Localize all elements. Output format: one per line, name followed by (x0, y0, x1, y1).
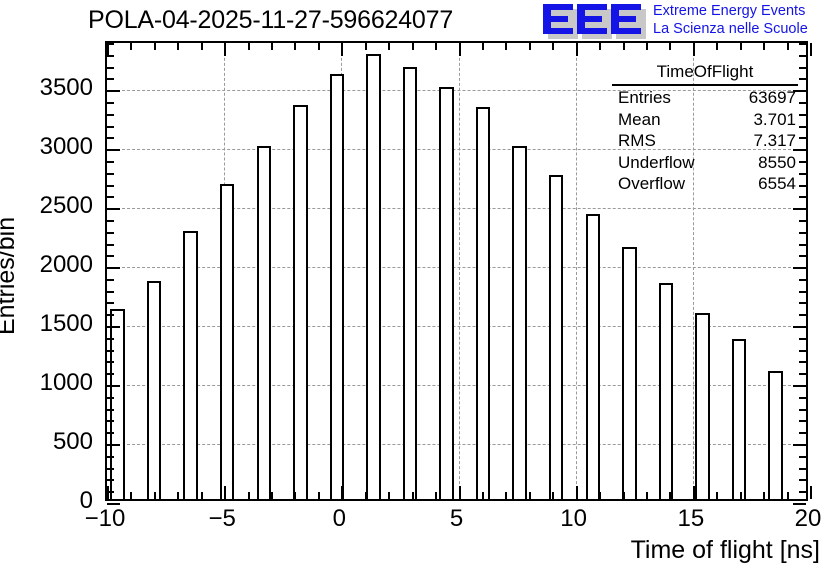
y-tick-left (107, 456, 114, 458)
histogram-bar (183, 231, 198, 499)
x-tick-top (716, 43, 718, 50)
histogram-bar (512, 146, 527, 499)
x-tick-top (318, 43, 320, 50)
y-tick-label: 0 (0, 487, 93, 515)
histogram-bar (768, 371, 783, 499)
x-tick-bottom (459, 486, 461, 499)
y-tick-right (799, 479, 806, 481)
x-tick-label: 5 (450, 505, 463, 533)
y-tick-left (107, 196, 114, 198)
y-tick-left (107, 361, 114, 363)
x-tick-bottom (341, 486, 343, 499)
x-tick-top (435, 43, 437, 50)
y-tick-left (107, 350, 114, 352)
histogram-bar (586, 214, 601, 499)
eee-logo: Extreme Energy Events La Scienza nelle S… (543, 2, 833, 42)
y-tick-left (107, 126, 114, 128)
histogram-bar (293, 105, 308, 499)
page-title: POLA-04-2025-11-27-596624077 (88, 6, 453, 35)
eee-logo-line2: La Scienza nelle Scuole (653, 21, 808, 39)
y-tick-left (107, 409, 114, 411)
y-tick-left (107, 114, 114, 116)
histogram-bar (220, 184, 235, 500)
x-tick-bottom (599, 492, 601, 499)
x-tick-top (294, 43, 296, 50)
x-tick-top (177, 43, 179, 50)
y-tick-left (107, 468, 114, 470)
x-tick-bottom (224, 486, 226, 499)
y-tick-left (107, 373, 114, 375)
y-tick-left (107, 338, 114, 340)
y-tick-label: 3000 (0, 133, 93, 161)
y-tick-right (799, 420, 806, 422)
x-tick-top (646, 43, 648, 50)
x-tick-label: 20 (795, 505, 822, 533)
x-tick-top (669, 43, 671, 50)
y-tick-left (107, 78, 114, 80)
x-tick-top (365, 43, 367, 50)
histogram-bar (476, 107, 491, 499)
y-tick-left (107, 385, 120, 387)
histogram-bar (330, 74, 345, 499)
x-tick-top (529, 43, 531, 50)
y-tick-left (107, 244, 114, 246)
stats-rows: Entries63697Mean3.701RMS7.317Underflow85… (608, 87, 802, 195)
stats-row: Underflow8550 (608, 152, 802, 174)
eee-logo-line1: Extreme Energy Events (653, 3, 808, 21)
y-tick-right (799, 409, 806, 411)
y-tick-right (799, 432, 806, 434)
x-tick-bottom (810, 486, 812, 499)
x-tick-bottom (552, 492, 554, 499)
x-tick-bottom (623, 492, 625, 499)
x-tick-top (763, 43, 765, 50)
x-tick-top (201, 43, 203, 50)
stats-row: Entries63697 (608, 87, 802, 109)
histogram-bar (732, 339, 747, 499)
x-tick-bottom (787, 492, 789, 499)
x-tick-bottom (716, 492, 718, 499)
y-tick-left (107, 55, 114, 57)
y-tick-right (793, 267, 806, 269)
stats-value: 63697 (749, 87, 796, 109)
x-tick-bottom (763, 492, 765, 499)
x-tick-bottom (576, 486, 578, 499)
x-tick-top (130, 43, 132, 50)
x-axis-title: Time of flight [ns] (631, 536, 820, 565)
y-tick-left (107, 279, 114, 281)
x-tick-bottom (154, 492, 156, 499)
x-tick-bottom (294, 492, 296, 499)
stats-key: RMS (618, 130, 656, 152)
x-tick-top (271, 43, 273, 50)
y-tick-left (107, 220, 114, 222)
histogram-bar (549, 175, 564, 499)
y-tick-left (107, 208, 120, 210)
x-tick-label: 10 (560, 505, 587, 533)
stats-value: 8550 (758, 152, 796, 174)
stats-value: 3.701 (753, 109, 796, 131)
x-tick-top (693, 43, 695, 56)
x-tick-bottom (482, 492, 484, 499)
y-tick-left (107, 420, 114, 422)
y-tick-right (799, 456, 806, 458)
histogram-bar (147, 281, 162, 499)
y-tick-left (107, 291, 114, 293)
histogram-bar (366, 54, 381, 499)
y-tick-label: 3500 (0, 74, 93, 102)
y-tick-right (799, 255, 806, 257)
y-tick-label: 2500 (0, 192, 93, 220)
y-tick-left (107, 43, 114, 45)
x-tick-bottom (318, 492, 320, 499)
x-tick-label: 15 (677, 505, 704, 533)
stats-box: TimeOfFlight Entries63697Mean3.701RMS7.3… (608, 62, 802, 195)
stats-key: Underflow (618, 152, 695, 174)
stats-row: Overflow6554 (608, 173, 802, 195)
y-tick-left (107, 432, 114, 434)
eee-logo-text: Extreme Energy Events La Scienza nelle S… (653, 3, 808, 38)
y-tick-label: 1000 (0, 369, 93, 397)
y-tick-label: 2000 (0, 251, 93, 279)
y-tick-right (799, 279, 806, 281)
y-tick-left (107, 137, 114, 139)
y-tick-left (107, 161, 114, 163)
y-tick-right (799, 55, 806, 57)
y-tick-left (107, 185, 114, 187)
x-tick-bottom (248, 492, 250, 499)
y-tick-right (799, 291, 806, 293)
y-tick-left (107, 149, 120, 151)
y-tick-right (793, 326, 806, 328)
histogram-bar (439, 87, 454, 499)
x-tick-bottom (740, 492, 742, 499)
x-tick-bottom (271, 492, 273, 499)
stats-key: Mean (618, 109, 661, 131)
y-tick-left (107, 267, 120, 269)
stats-key: Overflow (618, 173, 685, 195)
stats-row: RMS7.317 (608, 130, 802, 152)
x-tick-top (576, 43, 578, 56)
y-tick-right (799, 314, 806, 316)
x-tick-top (412, 43, 414, 50)
x-tick-top (459, 43, 461, 56)
x-tick-top (599, 43, 601, 50)
x-tick-label: −5 (208, 505, 235, 533)
x-tick-bottom (412, 492, 414, 499)
histogram-bar (659, 283, 674, 499)
y-tick-right (793, 444, 806, 446)
stats-value: 6554 (758, 173, 796, 195)
y-tick-left (107, 397, 114, 399)
stats-row: Mean3.701 (608, 109, 802, 131)
x-tick-bottom (646, 492, 648, 499)
y-tick-left (107, 255, 114, 257)
y-tick-right (799, 43, 806, 45)
x-tick-bottom (693, 486, 695, 499)
x-tick-top (810, 43, 812, 56)
x-tick-top (740, 43, 742, 50)
stats-key: Entries (618, 87, 671, 109)
x-tick-top (787, 43, 789, 50)
y-tick-right (799, 350, 806, 352)
x-tick-top (248, 43, 250, 50)
y-tick-left (107, 173, 114, 175)
y-tick-label: 500 (0, 428, 93, 456)
y-tick-left (107, 90, 120, 92)
x-tick-bottom (435, 492, 437, 499)
y-tick-left (107, 302, 114, 304)
y-tick-right (799, 338, 806, 340)
x-tick-top (388, 43, 390, 50)
x-tick-bottom (201, 492, 203, 499)
y-tick-left (107, 67, 114, 69)
x-tick-top (154, 43, 156, 50)
eee-mark-icon (543, 2, 647, 40)
y-tick-right (799, 373, 806, 375)
stats-title: TimeOfFlight (612, 62, 798, 86)
histogram-bar (622, 247, 637, 499)
histogram-bar (695, 313, 710, 499)
y-tick-right (793, 385, 806, 387)
y-tick-right (799, 491, 806, 493)
x-tick-bottom (177, 492, 179, 499)
y-tick-left (107, 314, 114, 316)
y-tick-left (107, 479, 114, 481)
y-tick-right (799, 232, 806, 234)
x-tick-top (552, 43, 554, 50)
histogram-bar (257, 146, 272, 499)
y-tick-right (799, 468, 806, 470)
y-tick-left (107, 232, 114, 234)
x-tick-bottom (505, 492, 507, 499)
histogram-bar (403, 67, 418, 499)
y-tick-right (799, 220, 806, 222)
x-tick-top (482, 43, 484, 50)
x-tick-bottom (130, 492, 132, 499)
x-tick-bottom (365, 492, 367, 499)
x-tick-bottom (669, 492, 671, 499)
y-tick-left (107, 102, 114, 104)
root-canvas: POLA-04-2025-11-27-596624077 Extreme Ene… (0, 0, 836, 572)
x-tick-label: 0 (333, 505, 346, 533)
y-tick-left (107, 326, 120, 328)
y-tick-label: 1500 (0, 310, 93, 338)
x-tick-bottom (388, 492, 390, 499)
y-tick-right (799, 244, 806, 246)
y-tick-right (793, 208, 806, 210)
y-tick-right (799, 397, 806, 399)
y-tick-right (799, 196, 806, 198)
x-tick-top (623, 43, 625, 50)
y-tick-left (107, 491, 114, 493)
y-tick-right (799, 361, 806, 363)
y-tick-right (799, 302, 806, 304)
x-tick-bottom (529, 492, 531, 499)
stats-value: 7.317 (753, 130, 796, 152)
x-tick-top (341, 43, 343, 56)
x-tick-top (224, 43, 226, 56)
x-tick-top (505, 43, 507, 50)
y-tick-left (107, 444, 120, 446)
